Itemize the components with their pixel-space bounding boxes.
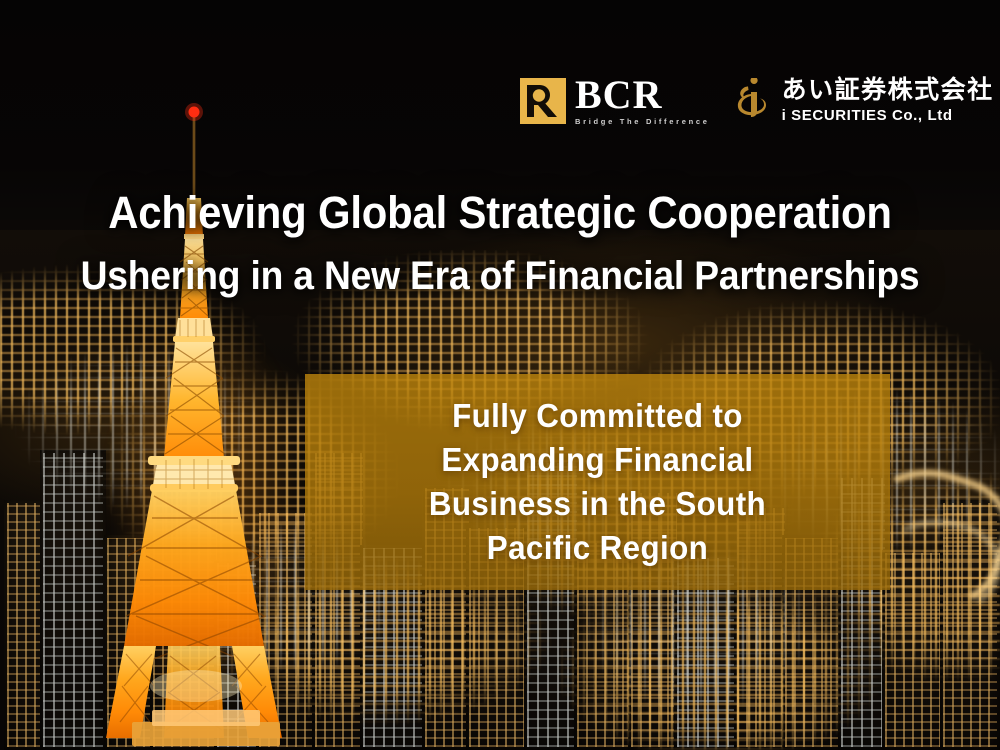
bcr-tagline: Bridge The Difference [575, 117, 710, 126]
partner-logo-bar: BCR Bridge The Difference あい証券株式会社 i SEC… [520, 66, 940, 136]
commitment-line: Pacific Region [429, 526, 766, 570]
bcr-logo[interactable]: BCR Bridge The Difference [520, 76, 710, 126]
bcr-wordmark: BCR [575, 76, 710, 114]
isecurities-japanese-name: あい証券株式会社 [782, 77, 994, 104]
commitment-line: Business in the South [429, 482, 766, 526]
promotional-banner: BCR Bridge The Difference あい証券株式会社 i SEC… [0, 0, 1000, 750]
bcr-monogram-icon [520, 78, 566, 124]
commitment-panel-text: Fully Committed to Expanding Financial B… [429, 394, 766, 570]
commitment-panel: Fully Committed to Expanding Financial B… [305, 374, 890, 590]
commitment-line: Fully Committed to [429, 394, 766, 438]
page-subtitle: Ushering in a New Era of Financial Partn… [35, 251, 965, 301]
isecurities-english-name: i SECURITIES Co., Ltd [782, 107, 994, 125]
isecurities-logo[interactable]: あい証券株式会社 i SECURITIES Co., Ltd [732, 77, 994, 125]
i-securities-swirl-icon [732, 78, 772, 124]
page-title: Achieving Global Strategic Cooperation [35, 186, 965, 240]
commitment-line: Expanding Financial [429, 438, 766, 482]
